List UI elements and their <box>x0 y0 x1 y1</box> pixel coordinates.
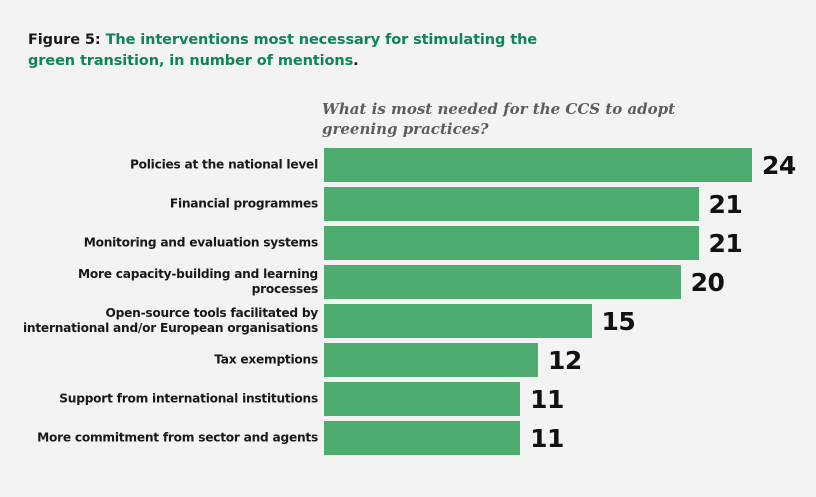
bar-value-label: 15 <box>602 309 636 334</box>
bar-fill <box>324 226 699 260</box>
bar-category-label: More commitment from sector and agents <box>14 431 318 446</box>
bar-category-label: More capacity-building and learning proc… <box>14 267 318 297</box>
bar-fill <box>324 343 538 377</box>
chart-subtitle: What is most needed for the CCS to adopt… <box>322 100 742 140</box>
bar-fill <box>324 304 592 338</box>
bar-fill <box>324 421 520 455</box>
bar-row: Tax exemptions12 <box>0 343 816 377</box>
bar-fill <box>324 382 520 416</box>
figure-colon: : <box>95 32 106 48</box>
bar-row: More commitment from sector and agents11 <box>0 421 816 455</box>
bar-track: 24 <box>324 148 796 182</box>
bar-value-label: 12 <box>548 348 582 373</box>
bar-fill <box>324 148 752 182</box>
bar-value-label: 11 <box>530 387 564 412</box>
bar-fill <box>324 265 681 299</box>
bar-row: Monitoring and evaluation systems21 <box>0 226 816 260</box>
bar-category-label: Financial programmes <box>14 197 318 212</box>
bar-track: 12 <box>324 343 582 377</box>
bar-row: More capacity-building and learning proc… <box>0 265 816 299</box>
bar-track: 20 <box>324 265 724 299</box>
bar-track: 15 <box>324 304 635 338</box>
bar-value-label: 24 <box>762 153 796 178</box>
bar-category-label: Monitoring and evaluation systems <box>14 236 318 251</box>
bar-value-label: 21 <box>709 231 743 256</box>
bar-row: Policies at the national level24 <box>0 148 816 182</box>
figure-caption: Figure 5: The interventions most necessa… <box>28 30 588 72</box>
bar-track: 21 <box>324 187 742 221</box>
bar-row: Support from international institutions1… <box>0 382 816 416</box>
bar-category-label: Tax exemptions <box>14 353 318 368</box>
bar-track: 11 <box>324 382 564 416</box>
bar-value-label: 21 <box>709 192 743 217</box>
bar-category-label: Policies at the national level <box>14 158 318 173</box>
bar-value-label: 20 <box>691 270 725 295</box>
bar-row: Open-source tools facilitated by interna… <box>0 304 816 338</box>
bar-value-label: 11 <box>530 426 564 451</box>
bar-category-label: Open-source tools facilitated by interna… <box>14 306 318 336</box>
figure-caption-period: . <box>353 53 358 69</box>
bar-chart: Policies at the national level24Financia… <box>0 148 816 443</box>
bar-category-label: Support from international institutions <box>14 392 318 407</box>
bar-track: 11 <box>324 421 564 455</box>
bar-track: 21 <box>324 226 742 260</box>
bar-fill <box>324 187 699 221</box>
figure-number: Figure 5 <box>28 32 95 48</box>
bar-row: Financial programmes21 <box>0 187 816 221</box>
